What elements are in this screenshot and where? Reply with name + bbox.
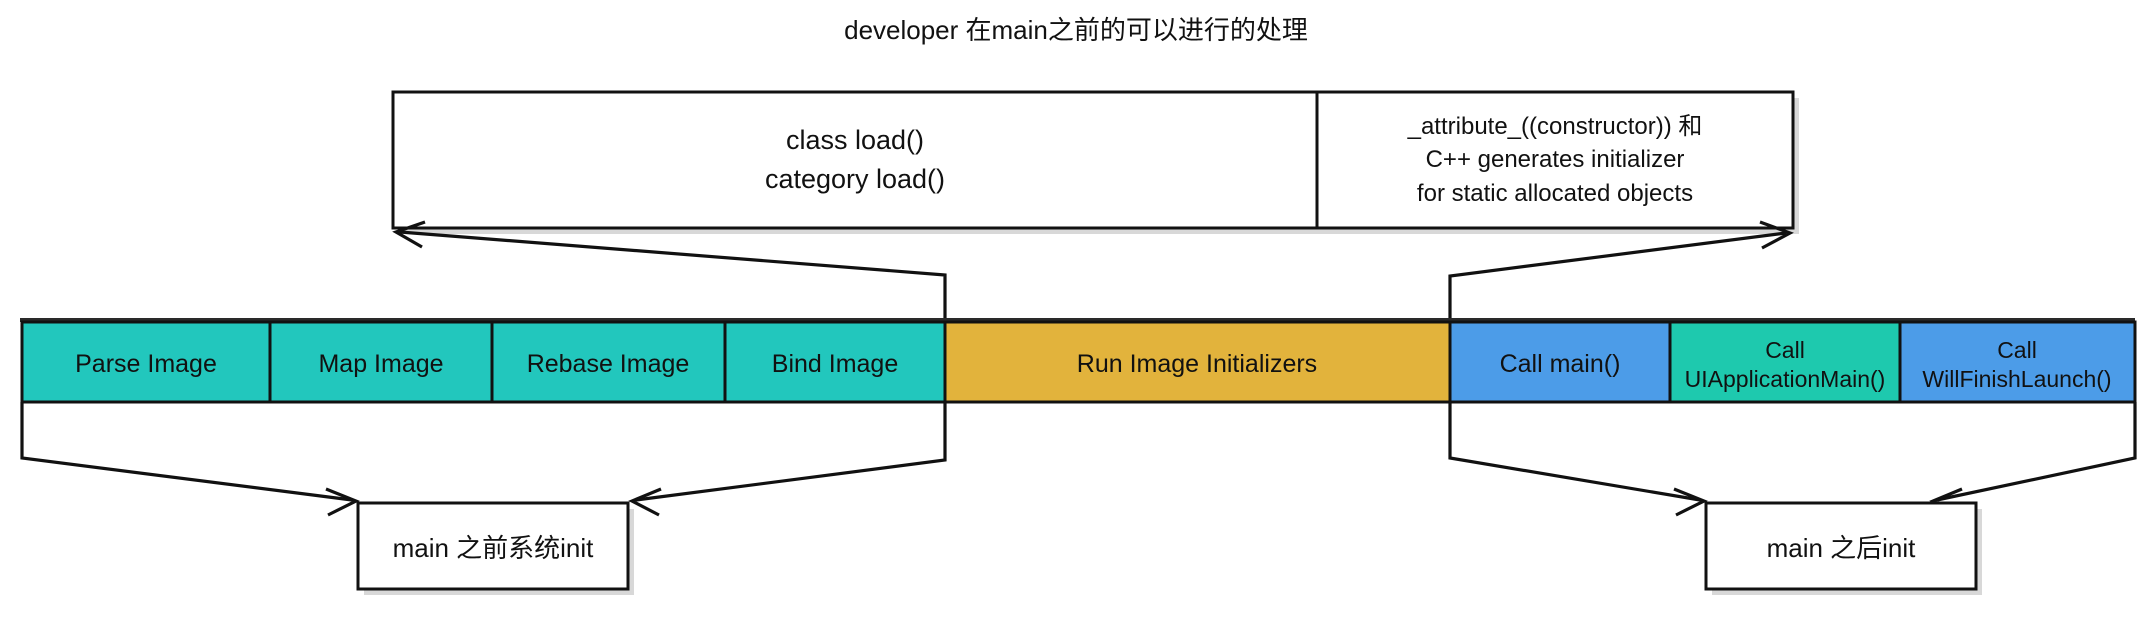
timeline-label-call-willfinishlaunch-line2: WillFinishLaunch() [1922,366,2111,392]
connector-post-main-init-left-arrowhead [1674,489,1704,515]
connector-post-main-init-left-line [1450,402,1700,500]
diagram-root: Parse Image Map Image Rebase Image Bind … [0,0,2152,626]
constructor-box-text: _attribute_((constructor)) 和 C++ generat… [1317,92,1793,228]
connector-post-main-init-right-line [1937,402,2135,500]
page-title: developer 在main之前的可以进行的处理 [0,10,2152,47]
constructor-line-3: for static allocated objects [1417,177,1693,211]
timeline-label-map-image: Map Image [318,350,443,378]
timeline-label-run-image-initializers: Run Image Initializers [1077,350,1317,378]
connector-pre-main-init-right-line [636,402,945,500]
load-methods-box-text: class load() category load() [393,92,1317,228]
timeline-bar: Parse Image Map Image Rebase Image Bind … [20,318,2135,402]
timeline-label-bind-image: Bind Image [772,350,898,378]
post-main-init-box-text: main 之后init [1706,503,1976,589]
connector-pre-main-init-left-line [22,402,352,500]
connector-load-methods-line [400,232,945,322]
timeline-label-call-main: Call main() [1500,350,1621,378]
timeline-label-rebase-image: Rebase Image [527,350,690,378]
connector-post-main-init-left [1450,402,1704,515]
connector-pre-main-init-left [22,402,356,515]
constructor-line-2: C++ generates initializer [1426,143,1685,177]
connector-constructor-line [1450,233,1786,322]
load-methods-line-1: class load() [786,121,924,160]
timeline-label-call-willfinishlaunch-line1: Call [1997,337,2037,363]
load-methods-line-2: category load() [765,160,945,199]
connector-pre-main-init-right [632,402,945,515]
timeline-label-call-uiapplicationmain-line2: UIApplicationMain() [1685,366,1886,392]
timeline-label-parse-image: Parse Image [75,350,217,378]
pre-main-init-box-text: main 之前系统init [358,503,628,589]
timeline-label-call-uiapplicationmain-line1: Call [1765,337,1805,363]
connector-constructor [1450,222,1790,322]
constructor-line-1: _attribute_((constructor)) 和 [1408,110,1703,144]
connector-pre-main-init-left-arrowhead [326,489,356,515]
connector-load-methods [396,222,945,322]
connector-post-main-init-right [1933,402,2135,515]
connector-pre-main-init-right-arrowhead [632,489,661,515]
